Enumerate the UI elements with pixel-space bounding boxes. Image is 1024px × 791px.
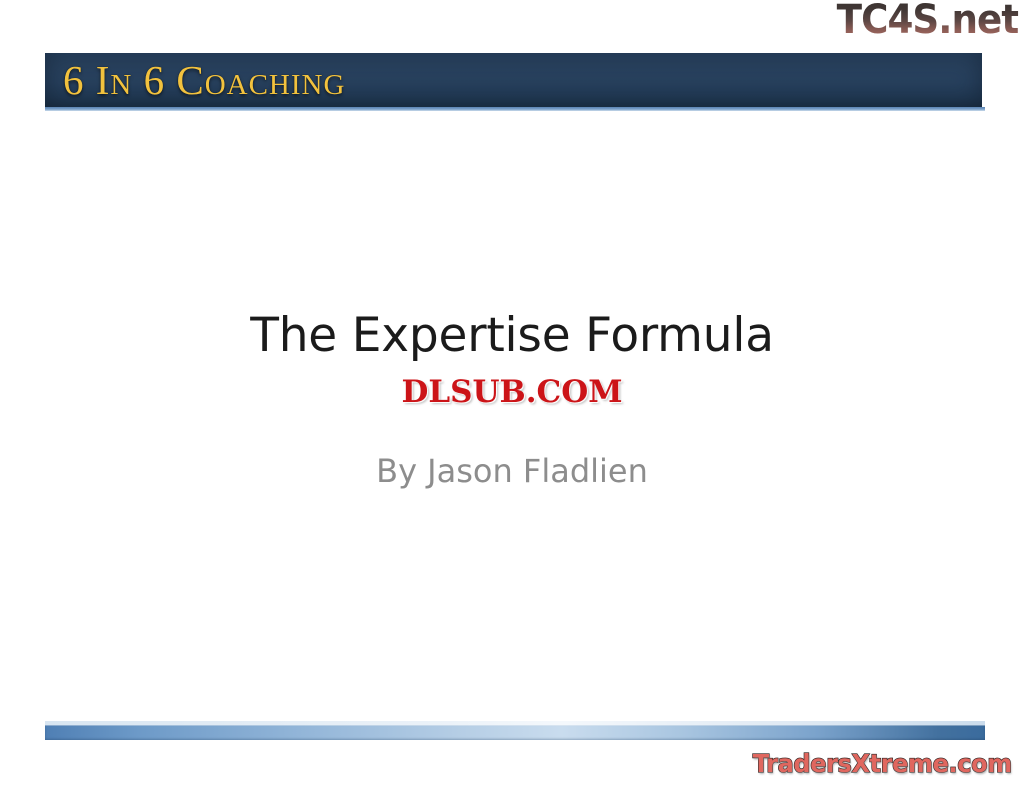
slide-subtitle: By Jason Fladlien [0, 450, 1024, 492]
presentation-slide: TC4S.net TC4S.net 6 In 6 Coaching The Ex… [0, 0, 1024, 791]
header-banner: 6 In 6 Coaching [45, 53, 982, 107]
slide-title: The Expertise Formula [0, 307, 1024, 365]
header-banner-title: 6 In 6 Coaching [63, 55, 345, 105]
dlsub-watermark: DLSUB.COM [0, 374, 1024, 411]
dlsub-watermark-text: DLSUB.COM [401, 374, 622, 411]
header-underline-divider [45, 107, 985, 111]
tc4s-net-watermark: TC4S.net [836, 0, 1018, 42]
tradersxtreme-logo: TradersXtreme.com [753, 748, 1012, 780]
footer-bar [45, 725, 985, 740]
